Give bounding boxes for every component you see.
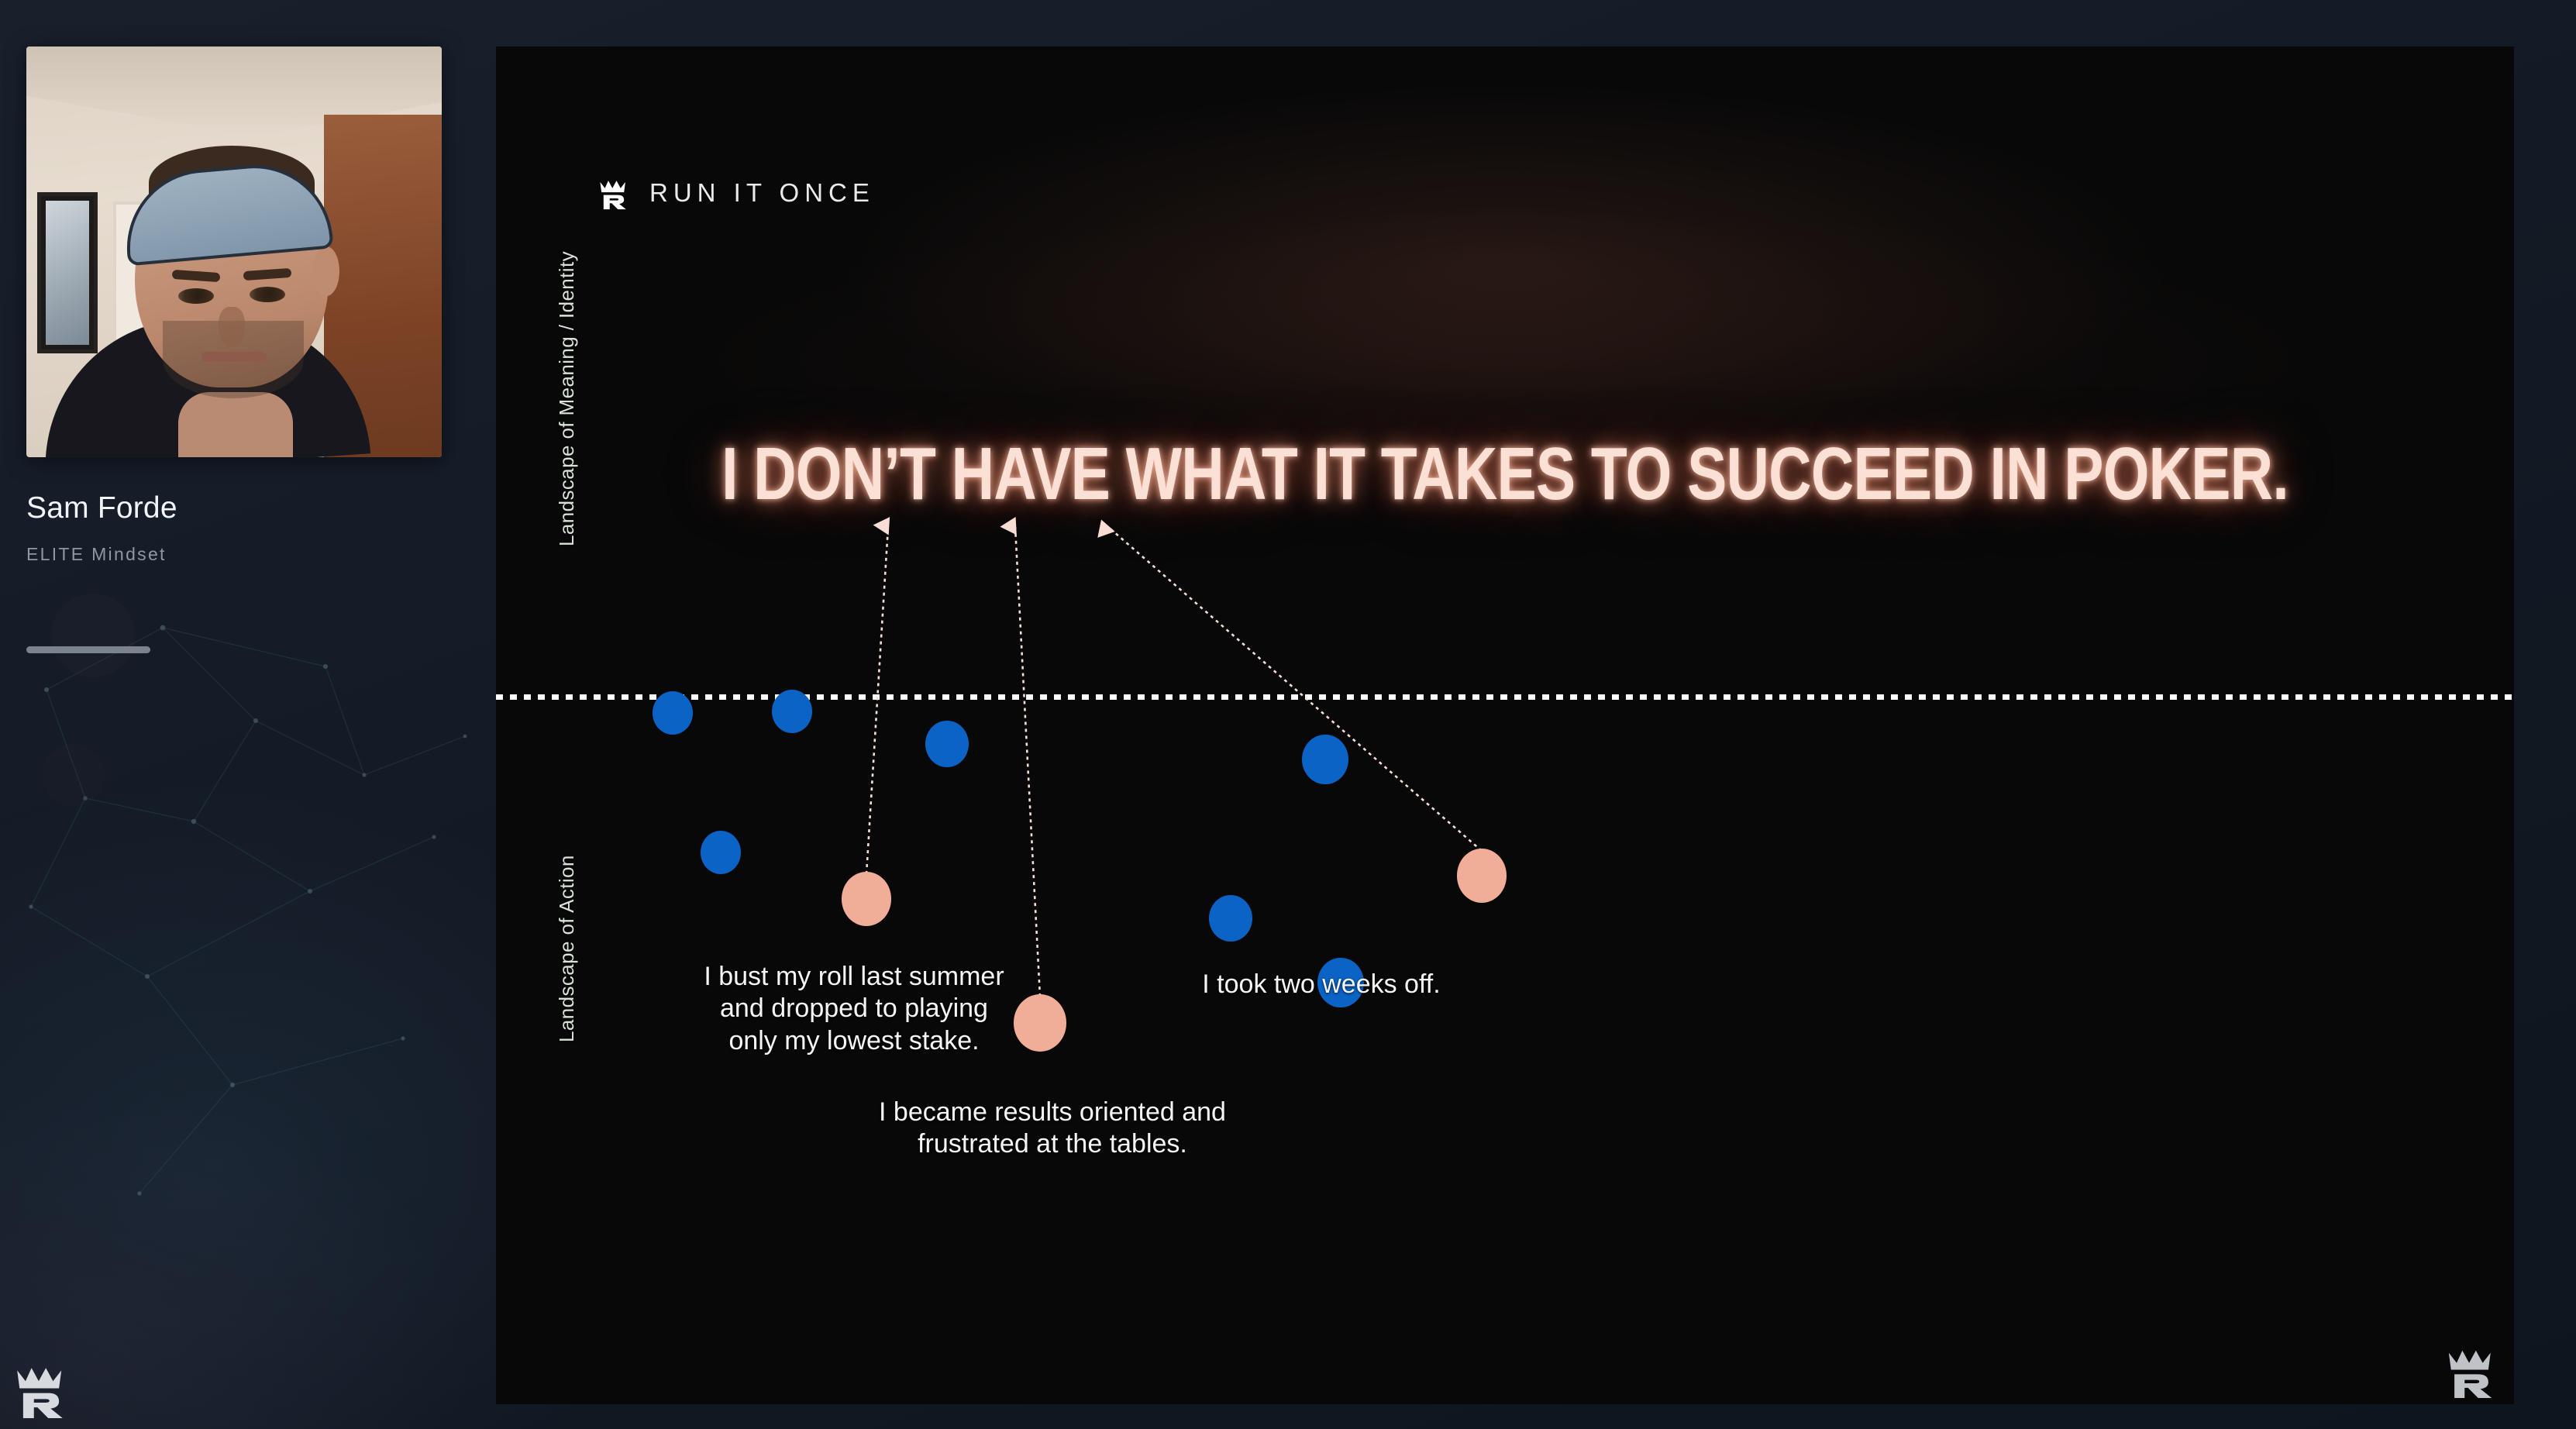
connector-line-0 [866, 527, 888, 874]
scatter-node-n3 [701, 831, 741, 874]
scatter-node-n7 [1209, 895, 1252, 942]
axis-label-meaning-identity: Landscape of Meaning / Identity [555, 251, 579, 546]
progress-bar-fill [26, 646, 150, 653]
slide-caption-0: I bust my roll last summer and dropped t… [676, 961, 1032, 1057]
application-window: Sam Forde ELITE Mindset RUN IT ONCE Land… [0, 0, 2576, 1429]
slide-headline: I DON’T HAVE WHAT IT TAKES TO SUCCEED IN… [697, 437, 2312, 511]
slide-caption-2: I took two weeks off. [1143, 969, 1500, 1000]
axis-label-action: Landscape of Action [555, 855, 579, 1042]
progress-bar[interactable] [26, 646, 150, 653]
brand-name: RUN IT ONCE [649, 178, 875, 208]
run-it-once-crown-logo-icon [11, 1361, 71, 1418]
sidebar-panel: Sam Forde ELITE Mindset [0, 0, 496, 1429]
decorative-constellation [0, 542, 496, 1429]
presentation-slide: RUN IT ONCE Landscape of Meaning / Ident… [496, 46, 2514, 1404]
scatter-node-n10 [1457, 849, 1507, 902]
speaker-role: ELITE Mindset [26, 544, 167, 565]
slide-caption-1: I became results oriented and frustrated… [874, 1097, 1231, 1161]
speaker-name: Sam Forde [26, 491, 177, 525]
webcam-video-feed[interactable] [26, 46, 442, 457]
scatter-node-n8 [1302, 735, 1348, 785]
scatter-node-n2 [772, 690, 812, 733]
run-it-once-crown-logo-icon [597, 175, 631, 211]
webcam-person-neck [178, 392, 293, 457]
connector-line-1 [1015, 527, 1040, 997]
scatter-node-n4 [842, 872, 891, 925]
run-it-once-crown-logo-icon [2443, 1344, 2500, 1398]
webcam-picture-frame [37, 192, 98, 353]
scatter-node-n5 [925, 721, 969, 767]
scatter-node-n1 [653, 691, 693, 735]
connector-line-2 [1108, 527, 1482, 851]
slide-brand-row: RUN IT ONCE [597, 175, 875, 211]
